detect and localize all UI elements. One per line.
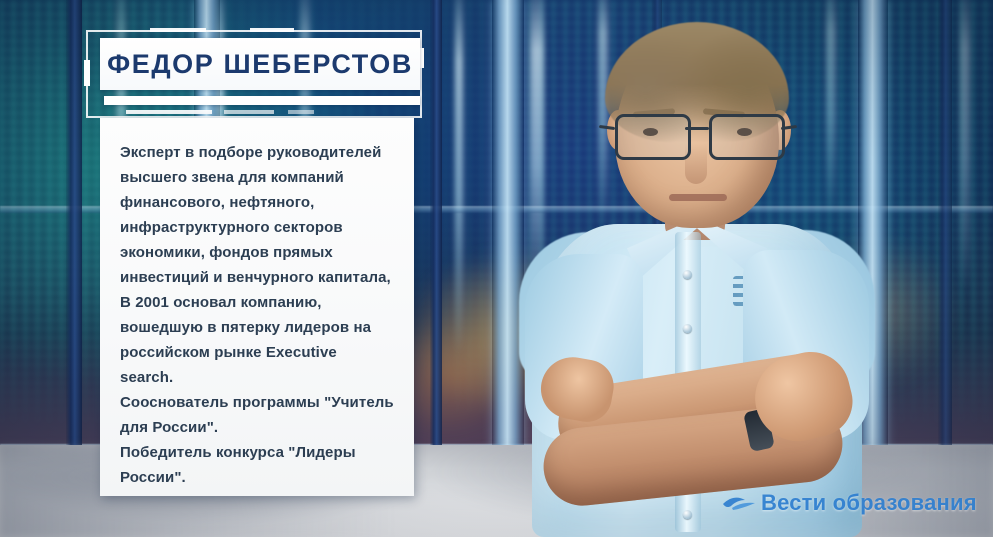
title-plate: ФЕДОР ШЕБЕРСТОВ <box>100 38 420 90</box>
accent-tick <box>288 110 314 114</box>
page-title: ФЕДОР ШЕБЕРСТОВ <box>107 49 413 80</box>
accent-tick <box>126 110 212 114</box>
title-accent-ticks <box>92 110 422 114</box>
presenter-figure <box>497 18 897 537</box>
title-underbar <box>104 96 420 105</box>
eyeglasses-icon <box>611 114 785 158</box>
frame-dash <box>250 28 294 32</box>
glasses-bridge <box>685 127 709 130</box>
biography-text: Эксперт в подборе руководителей высшего … <box>120 140 394 490</box>
frame-dash <box>150 28 206 32</box>
mouth <box>669 194 727 201</box>
frame-nub-left <box>84 60 90 86</box>
glasses-lens-right <box>709 114 785 160</box>
accent-tick <box>224 110 274 114</box>
shirt-button <box>683 510 692 519</box>
glasses-lens-left <box>615 114 691 160</box>
shirt-button <box>683 324 692 333</box>
channel-logo-text: Вести образования <box>761 490 977 516</box>
broadcast-screen: ФЕДОР ШЕБЕРСТОВ Эксперт в подборе руково… <box>0 0 993 537</box>
channel-logo: Вести образования <box>722 490 977 516</box>
swoosh-bird-icon <box>722 493 756 513</box>
biography-panel: Эксперт в подборе руководителей высшего … <box>100 118 414 496</box>
shirt-button <box>683 270 692 279</box>
